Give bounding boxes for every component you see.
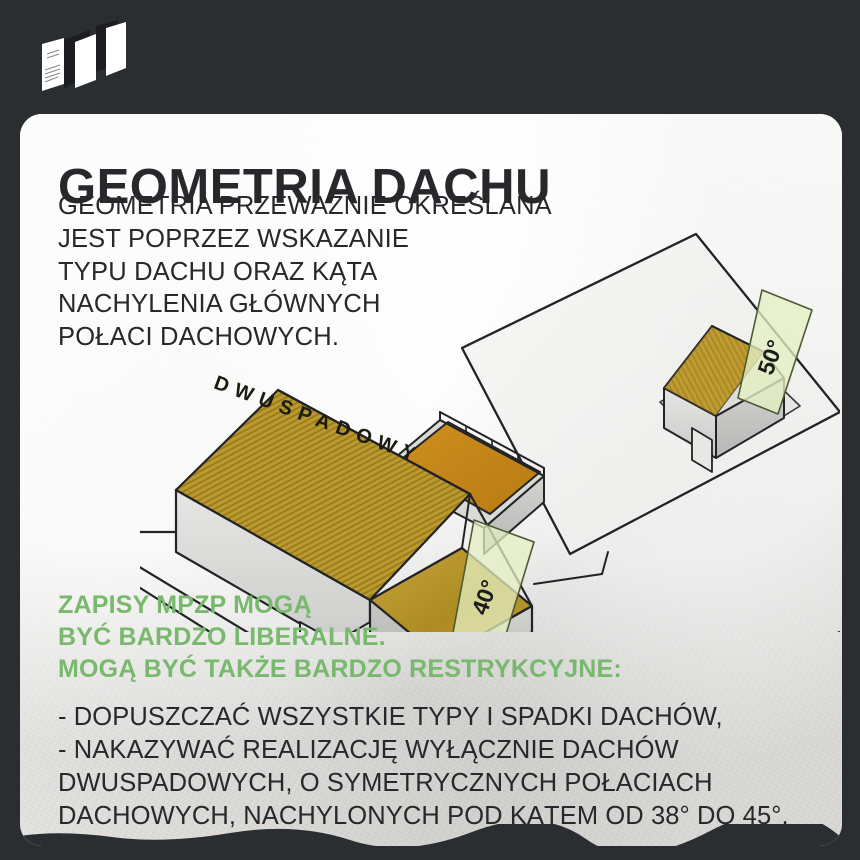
intro-line: GEOMETRIA PRZEWAŻNIE OKREŚLANA: [58, 190, 552, 223]
intro-line: TYPU DACHU ORAZ KĄTA: [58, 256, 552, 289]
green-line: ZAPISY MPZP MOGĄ: [58, 590, 622, 622]
bullet-line: - NAKAZYWAĆ REALIZACJĘ WYŁĄCZNIE DACHÓW: [58, 734, 789, 767]
brand-logo[interactable]: [34, 18, 134, 98]
intro-line: JEST POPRZEZ WSKAZANIE: [58, 223, 552, 256]
intro-paragraph: GEOMETRIA PRZEWAŻNIE OKREŚLANA JEST POPR…: [58, 190, 552, 354]
green-line: MOGĄ BYĆ TAKŻE BARDZO RESTRYKCYJNE:: [58, 654, 622, 686]
green-statement: ZAPISY MPZP MOGĄ BYĆ BARDZO LIBERALNE. M…: [58, 590, 622, 685]
poster-root: DWUSPADOWY 40° 50° GEOMETRIA DACHU GEOME…: [0, 0, 860, 860]
green-line: BYĆ BARDZO LIBERALNE.: [58, 622, 622, 654]
bullet-list: - DOPUSZCZAĆ WSZYSTKIE TYPY I SPADKI DAC…: [58, 701, 789, 833]
plot-connector: [534, 552, 608, 584]
bullet-line: DACHOWYCH, NACHYLONYCH POD KĄTEM OD 38° …: [58, 800, 789, 833]
paper-card: DWUSPADOWY 40° 50° GEOMETRIA DACHU GEOME…: [20, 114, 842, 846]
intro-line: POŁACI DACHOWYCH.: [58, 321, 552, 354]
intro-line: NACHYLENIA GŁÓWNYCH: [58, 288, 552, 321]
bullet-line: DWUSPADOWYCH, O SYMETRYCZNYCH POŁACIACH: [58, 767, 789, 800]
bullet-line: - DOPUSZCZAĆ WSZYSTKIE TYPY I SPADKI DAC…: [58, 701, 789, 734]
